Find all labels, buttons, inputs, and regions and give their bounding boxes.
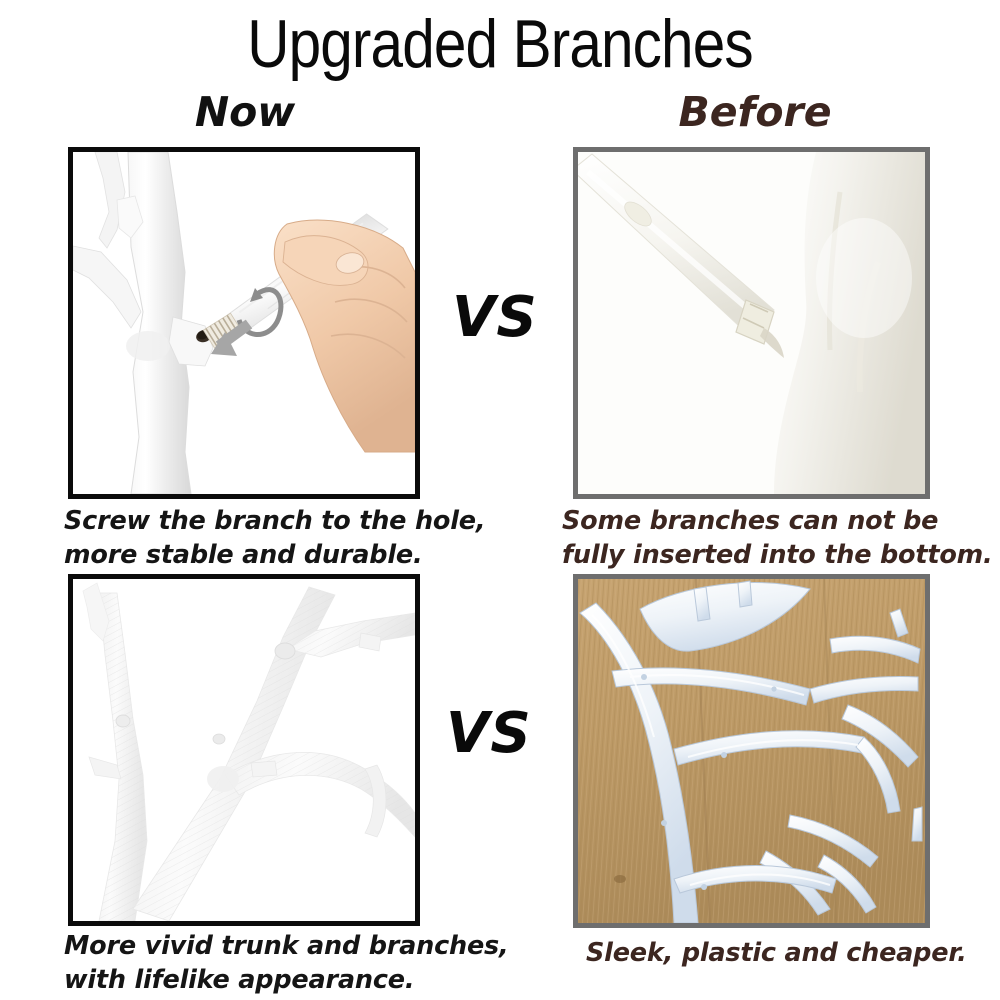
- caption-line: more stable and durable.: [64, 539, 514, 573]
- photo-canvas: [73, 152, 415, 494]
- photo-canvas: [578, 579, 925, 923]
- caption-line: with lifelike appearance.: [64, 964, 519, 998]
- photo-canvas: [73, 579, 415, 921]
- caption-line: fully inserted into the bottom.: [562, 539, 1000, 573]
- photo-plastic-branches-on-wood-floor: [573, 574, 930, 928]
- photo-textured-white-branches: [68, 574, 420, 926]
- photo-canvas: [578, 152, 925, 494]
- caption-line: More vivid trunk and branches,: [64, 930, 519, 964]
- column-header-now: Now: [0, 92, 490, 133]
- caption-line: Screw the branch to the hole,: [64, 505, 514, 539]
- caption-line: Sleek, plastic and cheaper.: [586, 937, 986, 971]
- caption-now-bottom: More vivid trunk and branches, with life…: [64, 930, 519, 997]
- caption-before-top: Some branches can not be fully inserted …: [562, 505, 1000, 572]
- photo-hand-screwing-branch-into-trunk: [68, 147, 420, 499]
- photo-branch-not-fully-inserted: [573, 147, 930, 499]
- vs-separator-bottom: VS: [446, 706, 532, 762]
- caption-line: Some branches can not be: [562, 505, 1000, 539]
- caption-now-top: Screw the branch to the hole, more stabl…: [64, 505, 514, 572]
- infographic-page: Upgraded Branches Now Before: [0, 0, 1000, 1000]
- vs-separator-top: VS: [452, 290, 538, 346]
- column-header-before: Before: [510, 92, 1000, 133]
- page-title: Upgraded Branches: [70, 10, 930, 78]
- caption-before-bottom: Sleek, plastic and cheaper.: [586, 937, 986, 971]
